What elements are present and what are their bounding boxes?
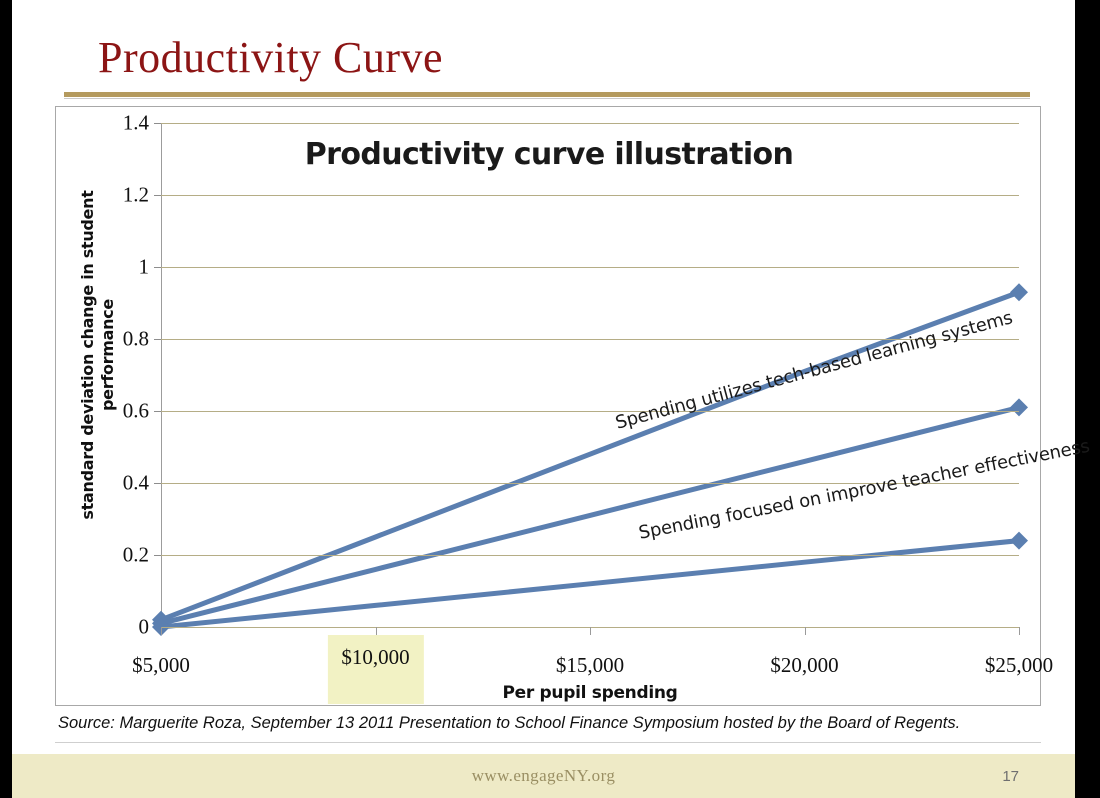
series-line — [161, 541, 1019, 627]
series-line — [161, 407, 1019, 623]
y-tick-mark — [154, 555, 161, 556]
gridline — [161, 411, 1019, 412]
x-tick-label: $25,000 — [975, 647, 1063, 684]
source-note: Source: Marguerite Roza, September 13 20… — [58, 714, 960, 733]
letterbox-bar-left — [0, 0, 12, 798]
page-title: Productivity Curve — [98, 32, 443, 83]
y-axis-title: standard deviation change in student per… — [78, 145, 118, 565]
y-tick-mark — [154, 123, 161, 124]
chart-container: Productivity curve illustration standard… — [55, 106, 1041, 706]
y-tick-label: 0.8 — [123, 327, 149, 352]
gridline — [161, 195, 1019, 196]
y-tick-label: 1.2 — [123, 183, 149, 208]
letterbox-bar-right — [1075, 0, 1100, 798]
y-tick-label: 0 — [139, 615, 150, 640]
y-tick-mark — [154, 195, 161, 196]
y-tick-label: 0.2 — [123, 543, 149, 568]
y-tick-label: 1.4 — [123, 111, 149, 136]
x-tick-label: $15,000 — [546, 647, 634, 684]
x-tick-mark — [1019, 627, 1020, 635]
title-divider — [64, 92, 1030, 97]
gridline — [161, 555, 1019, 556]
x-tick-mark — [590, 627, 591, 635]
x-axis-title: Per pupil spending — [161, 683, 1019, 703]
y-tick-label: 1 — [139, 255, 150, 280]
source-divider — [55, 742, 1041, 743]
data-point-marker — [1010, 398, 1028, 416]
title-divider-secondary — [64, 98, 1030, 99]
plot-area: Per pupil spending 00.20.40.60.811.21.4$… — [161, 123, 1019, 627]
series-lines — [161, 123, 1019, 627]
y-tick-mark — [154, 483, 161, 484]
y-tick-mark — [154, 339, 161, 340]
slide: Productivity Curve Productivity curve il… — [12, 0, 1075, 798]
gridline — [161, 123, 1019, 124]
x-tick-mark — [161, 627, 162, 635]
data-point-marker — [1010, 283, 1028, 301]
page-number: 17 — [1002, 768, 1019, 785]
productivity-curve-chart: Productivity curve illustration standard… — [56, 107, 1042, 707]
x-tick-label: $10,000 — [327, 635, 423, 704]
y-tick-mark — [154, 411, 161, 412]
y-tick-mark — [154, 267, 161, 268]
x-tick-mark — [805, 627, 806, 635]
x-tick-label: $20,000 — [760, 647, 848, 684]
y-tick-label: 0.6 — [123, 399, 149, 424]
x-tick-label: $5,000 — [122, 647, 200, 684]
slide-footer: www.engageNY.org 17 — [12, 754, 1075, 798]
x-tick-mark — [376, 627, 377, 635]
data-point-marker — [1010, 532, 1028, 550]
gridline — [161, 267, 1019, 268]
y-tick-label: 0.4 — [123, 471, 149, 496]
footer-url[interactable]: www.engageNY.org — [12, 766, 1075, 786]
